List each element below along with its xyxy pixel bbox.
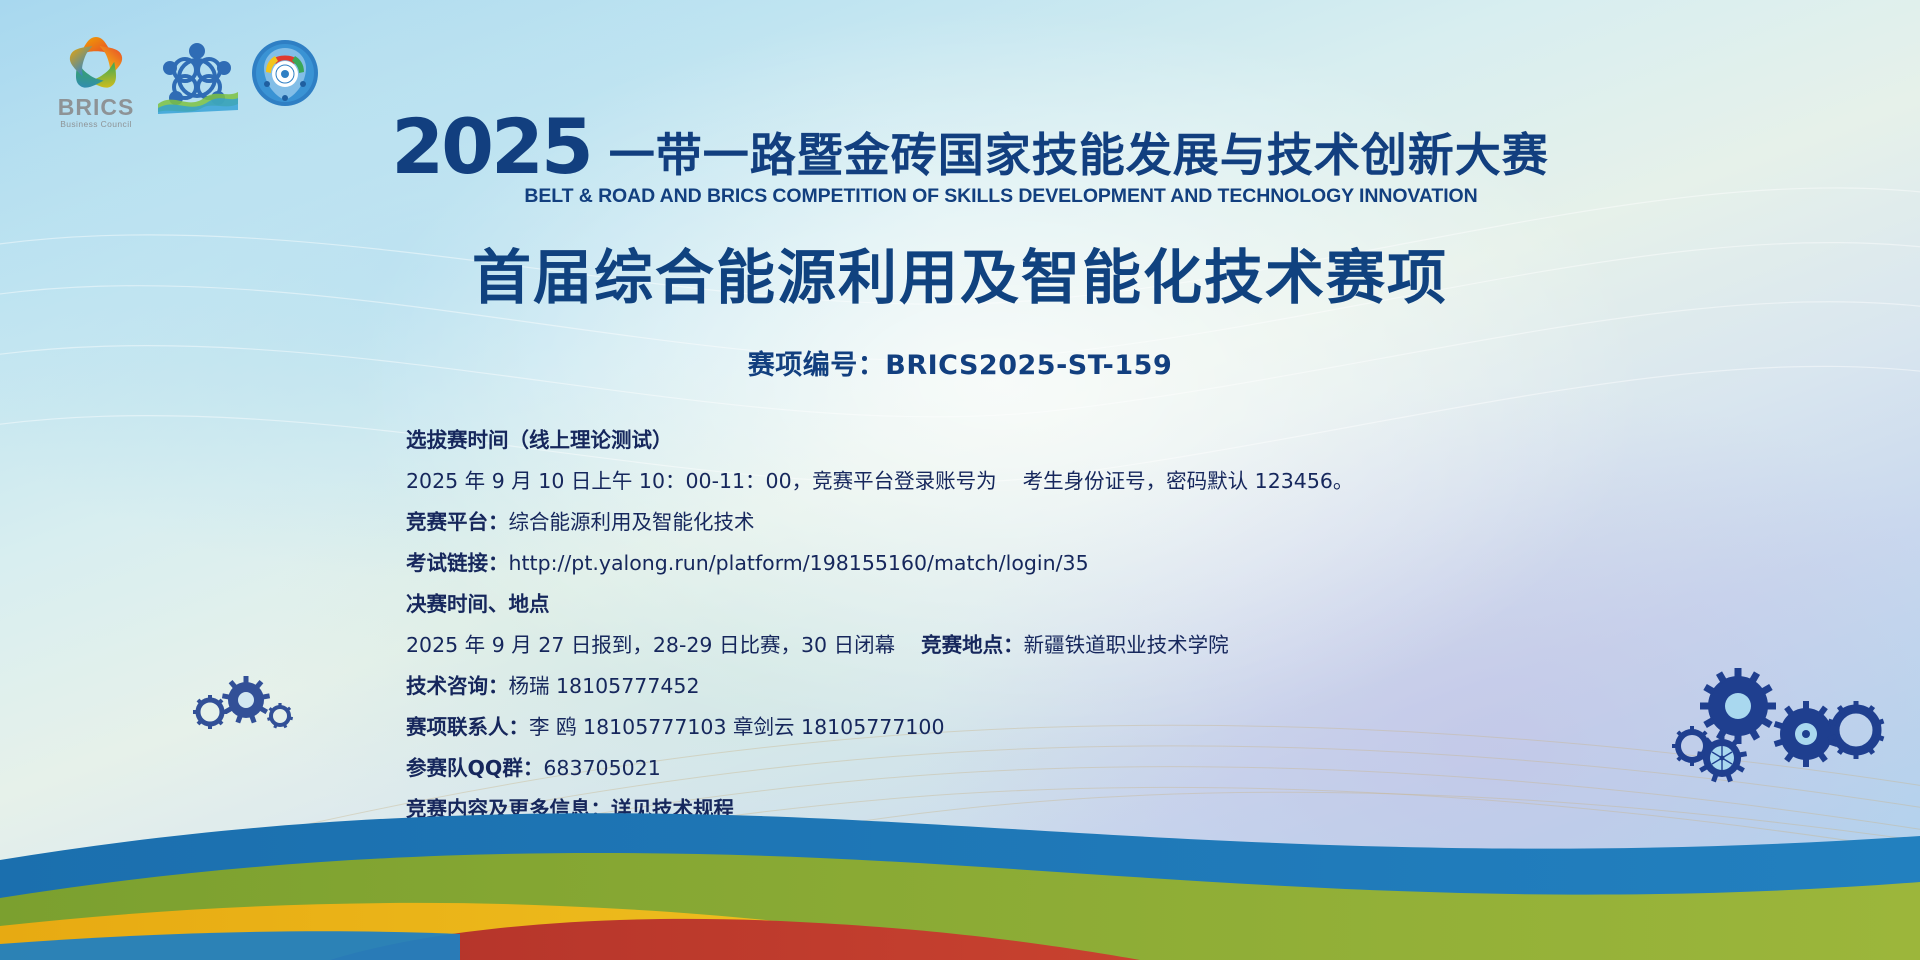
competition-round-emblem-logo [250, 38, 320, 113]
brics-star-icon [65, 34, 127, 94]
worldskills-emblem-icon [154, 40, 240, 114]
platform-label: 竞赛平台： [406, 510, 509, 534]
header-block: 2025 一带一路暨金砖国家技能发展与技术创新大赛 BELT & ROAD AN… [0, 116, 1920, 382]
exam-link-line: 考试链接：http://pt.yalong.run/platform/19815… [406, 543, 1706, 584]
gear-large-icon [1700, 668, 1776, 744]
gear-left-large-icon [222, 676, 270, 723]
bottom-wave-decoration [0, 720, 1920, 960]
venue-label: 竞赛地点： [921, 633, 1024, 657]
gear-left-tiny-icon [267, 703, 293, 729]
selection-time-tail: 考生身份证号，密码默认 123456。 [1023, 469, 1354, 493]
poster-canvas: BRICS Business Council [0, 0, 1920, 960]
year-2025: 2025 [391, 116, 591, 178]
event-main-title: 首届综合能源利用及智能化技术赛项 [0, 230, 1920, 315]
exam-link-value[interactable]: http://pt.yalong.run/platform/198155160/… [509, 551, 1089, 575]
final-heading: 决赛时间、地点 [406, 584, 1706, 625]
competition-title-en: BELT & ROAD AND BRICS COMPETITION OF SKI… [82, 185, 1920, 208]
gear-ring-icon [1828, 701, 1885, 759]
competition-title-cn: 一带一路暨金砖国家技能发展与技术创新大赛 [609, 132, 1549, 178]
event-code-line: 赛项编号：BRICS2025-ST-159 [0, 343, 1920, 382]
gear-cluster-right [1662, 662, 1892, 792]
platform-line: 竞赛平台：综合能源利用及智能化技术 [406, 502, 1706, 543]
competition-round-emblem-icon [250, 38, 320, 108]
gear-left-small-icon [193, 695, 227, 729]
platform-value: 综合能源利用及智能化技术 [509, 510, 755, 534]
tech-support-line: 技术咨询：杨瑞 18105777452 [406, 666, 1706, 707]
tech-support-label: 技术咨询： [406, 674, 509, 698]
gear-spoked-icon [1697, 733, 1747, 782]
header-title-row: 2025 一带一路暨金砖国家技能发展与技术创新大赛 [20, 116, 1920, 178]
brics-wordmark: BRICS [48, 96, 144, 118]
tech-support-value: 杨瑞 18105777452 [509, 674, 700, 698]
event-code-label: 赛项编号： [748, 350, 886, 381]
logo-group: BRICS Business Council [48, 34, 320, 129]
event-code-value: BRICS2025-ST-159 [885, 350, 1172, 381]
gear-medium-icon [1774, 701, 1839, 767]
brics-business-council-logo: BRICS Business Council [48, 34, 144, 129]
exam-link-label: 考试链接： [406, 551, 509, 575]
selection-time-text: 2025 年 9 月 10 日上午 10：00-11：00，竞赛平台登录账号为 [406, 469, 997, 493]
selection-heading: 选拔赛时间（线上理论测试） [406, 420, 1706, 461]
worldskills-emblem-logo [154, 40, 240, 119]
selection-time-line: 2025 年 9 月 10 日上午 10：00-11：00，竞赛平台登录账号为考… [406, 461, 1706, 502]
gear-cluster-left [180, 668, 310, 738]
final-time-value: 2025 年 9 月 27 日报到，28-29 日比赛，30 日闭幕 [406, 633, 895, 657]
final-time-line: 2025 年 9 月 27 日报到，28-29 日比赛，30 日闭幕竞赛地点：新… [406, 625, 1706, 666]
venue-value: 新疆铁道职业技术学院 [1024, 633, 1229, 657]
